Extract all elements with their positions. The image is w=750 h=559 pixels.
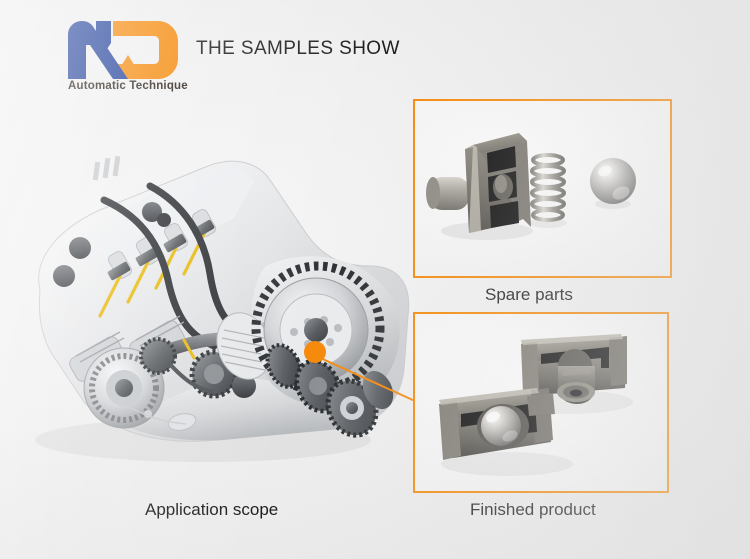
steel-ball — [590, 158, 636, 209]
samples-show-page: Automatic Technique THE SAMPLES SHOW — [0, 0, 750, 559]
page-title: THE SAMPLES SHOW — [196, 38, 400, 60]
bracket-body — [465, 133, 531, 233]
application-scope-illustration — [8, 140, 418, 470]
caption-spare-parts: Spare parts — [485, 285, 573, 305]
caption-finished-product: Finished product — [470, 500, 596, 520]
coil-spring — [529, 155, 567, 228]
logo-tagline: Automatic Technique — [68, 80, 190, 92]
caption-application-scope: Application scope — [145, 500, 278, 520]
bracket-pin — [426, 177, 469, 210]
company-logo: Automatic Technique — [66, 21, 188, 97]
photo-panel-finished-product[interactable] — [413, 312, 669, 493]
page-header: Automatic Technique THE SAMPLES SHOW — [0, 0, 750, 100]
assembly-ball-side — [439, 388, 573, 476]
callout-hotspot-dot[interactable] — [304, 341, 326, 363]
company-logo-md-icon — [66, 21, 178, 79]
photo-panel-spare-parts[interactable] — [413, 99, 672, 278]
finished-product-photo — [415, 314, 667, 491]
spare-parts-photo — [415, 101, 670, 276]
